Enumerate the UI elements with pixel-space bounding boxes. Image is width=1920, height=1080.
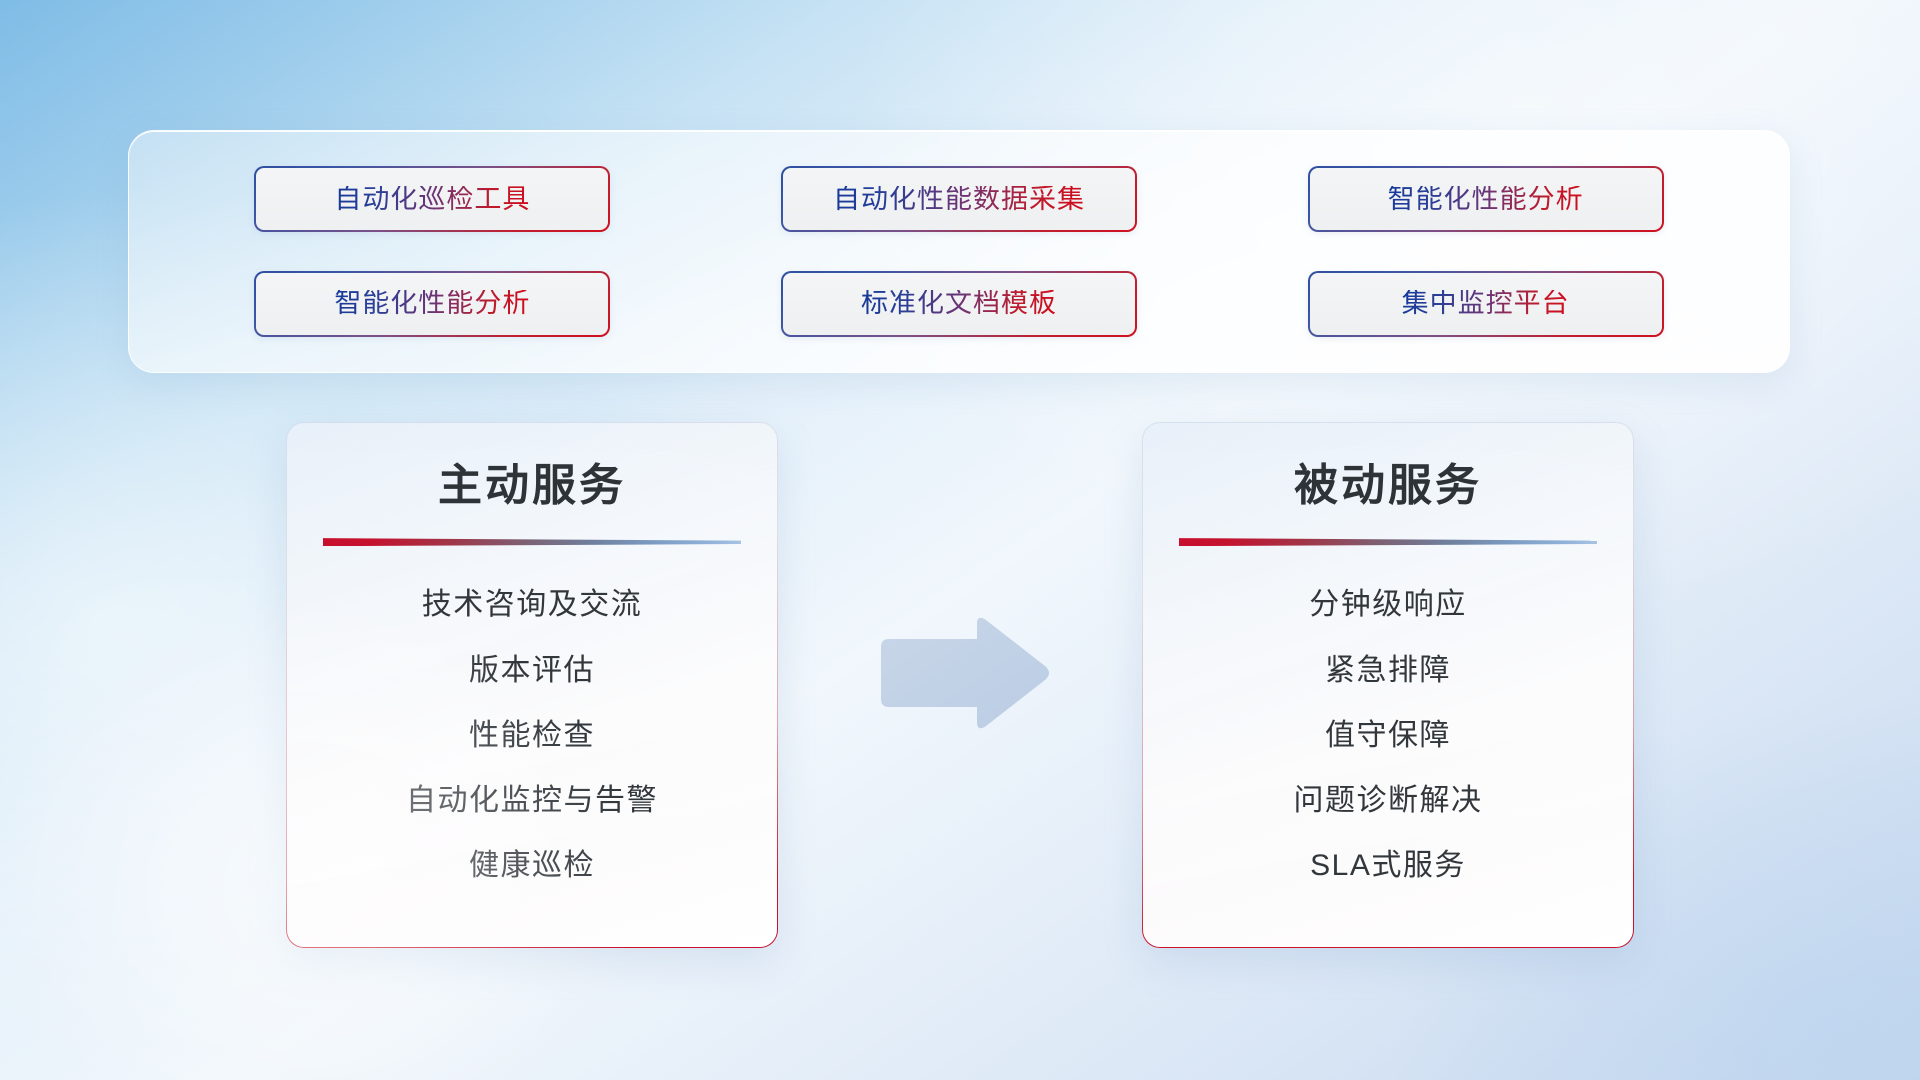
service-item: 值守保障: [1325, 718, 1451, 754]
service-card-reactive[interactable]: 被动服务 分钟级响应 紧急排障 值守保障 问题诊断解决 SLA式服务: [1142, 422, 1634, 948]
capability-tag-label: 智能化性能分析: [1388, 186, 1584, 213]
capability-tag-panel: 自动化巡检工具 自动化性能数据采集 智能化性能分析 智能化性能分析 标准化文档模…: [128, 130, 1790, 373]
service-item: 分钟级响应: [1309, 587, 1467, 623]
capability-tag[interactable]: 自动化性能数据采集: [781, 166, 1137, 232]
capability-tag[interactable]: 标准化文档模板: [781, 271, 1137, 337]
service-item: 问题诊断解决: [1294, 783, 1483, 819]
service-item: 技术咨询及交流: [422, 587, 643, 623]
service-item: 版本评估: [469, 653, 595, 689]
capability-tag-surface: 智能化性能分析: [256, 273, 608, 335]
capability-tag[interactable]: 智能化性能分析: [254, 271, 610, 337]
capability-tag-surface: 标准化文档模板: [783, 273, 1135, 335]
service-card-title: 主动服务: [438, 461, 626, 512]
service-item: 紧急排障: [1325, 653, 1451, 689]
service-item-list: 技术咨询及交流 版本评估 性能检查 自动化监控与告警 健康巡检: [323, 558, 742, 919]
service-item: SLA式服务: [1310, 848, 1466, 884]
capability-tag[interactable]: 自动化巡检工具: [254, 166, 610, 232]
capability-tag[interactable]: 智能化性能分析: [1308, 166, 1664, 232]
capability-tag-label: 自动化巡检工具: [334, 186, 530, 213]
capability-tag-label: 集中监控平台: [1402, 290, 1570, 317]
capability-tag-surface: 智能化性能分析: [1310, 168, 1662, 230]
capability-tag-label: 智能化性能分析: [334, 290, 530, 317]
service-card-proactive[interactable]: 主动服务 技术咨询及交流 版本评估 性能检查 自动化监控与告警 健康巡检: [286, 422, 778, 948]
service-item: 性能检查: [469, 718, 595, 754]
service-item: 自动化监控与告警: [406, 783, 658, 819]
service-item: 健康巡检: [469, 848, 595, 884]
capability-tag-surface: 自动化性能数据采集: [783, 168, 1135, 230]
service-card-body: 主动服务 技术咨询及交流 版本评估 性能检查 自动化监控与告警 健康巡检: [289, 425, 776, 946]
service-card-body: 被动服务 分钟级响应 紧急排障 值守保障 问题诊断解决 SLA式服务: [1145, 425, 1632, 946]
capability-tag-surface: 自动化巡检工具: [256, 168, 608, 230]
arrow-right-icon: [873, 614, 1053, 732]
capability-tag-label: 自动化性能数据采集: [833, 186, 1085, 213]
slide-canvas: 自动化巡检工具 自动化性能数据采集 智能化性能分析 智能化性能分析 标准化文档模…: [0, 0, 1920, 1080]
title-divider: [1179, 537, 1598, 546]
capability-tag-surface: 集中监控平台: [1310, 273, 1662, 335]
service-item-list: 分钟级响应 紧急排障 值守保障 问题诊断解决 SLA式服务: [1179, 558, 1598, 919]
capability-tag-label: 标准化文档模板: [861, 290, 1057, 317]
service-card-title: 被动服务: [1294, 461, 1482, 512]
title-divider: [323, 537, 742, 546]
capability-tag[interactable]: 集中监控平台: [1308, 271, 1664, 337]
